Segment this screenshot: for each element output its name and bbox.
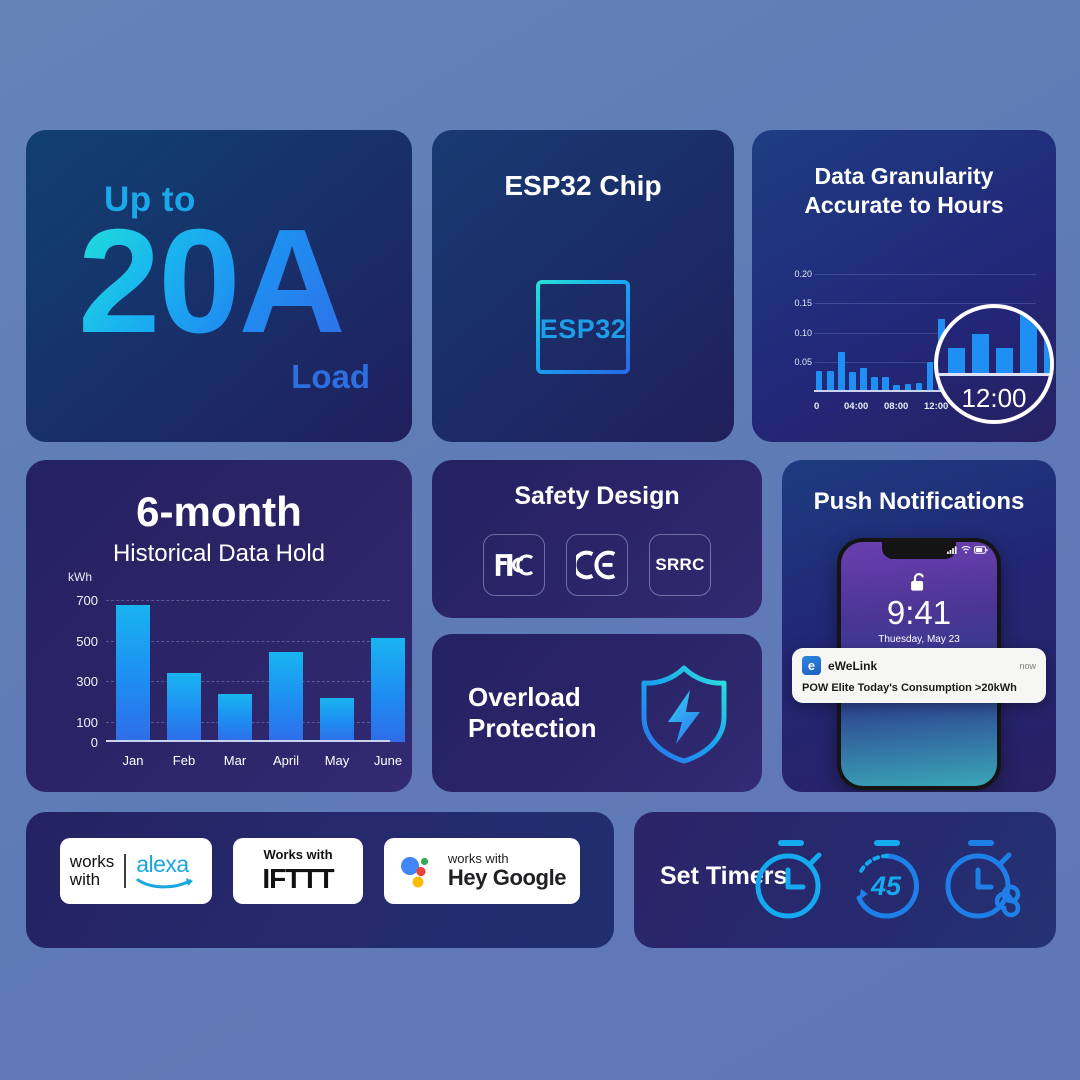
six-month-y-tick: 300 <box>52 674 98 689</box>
alexa-works-line2: with <box>70 871 114 889</box>
hourly-y-tick: 0.15 <box>774 298 812 308</box>
hourly-bar <box>816 371 823 392</box>
timer-clock-icon <box>750 838 832 922</box>
load-label: Load <box>291 358 370 396</box>
hourly-x-tick: 08:00 <box>884 401 908 412</box>
magnifier-icon: 12:00 <box>934 304 1054 424</box>
microchip-icon: ESP32 <box>508 252 658 407</box>
ifttt-wordmark: IFTTT <box>262 863 333 895</box>
card-data-granularity: Data Granularity Accurate to Hours 0.050… <box>752 130 1056 442</box>
notification-timestamp: now <box>1019 661 1036 671</box>
alexa-divider <box>124 854 126 888</box>
wifi-icon <box>961 546 971 554</box>
six-month-bar <box>218 694 252 742</box>
push-title: Push Notifications <box>782 488 1056 516</box>
six-month-y-tick: 0 <box>52 735 98 750</box>
alexa-wordmark: alexa <box>136 851 202 878</box>
phone-date: Thuesday, May 23 <box>841 634 997 645</box>
granularity-title-line2: Accurate to Hours <box>752 191 1056 220</box>
magnifier-time-label: 12:00 <box>938 383 1050 414</box>
overload-line1: Overload <box>468 682 597 713</box>
six-month-gridline <box>106 600 390 601</box>
signal-icon <box>947 546 958 554</box>
fcc-icon <box>483 534 545 596</box>
hourly-bar <box>860 368 867 392</box>
card-max-load: Up to 20A Load <box>26 130 412 442</box>
card-works-with: works with alexa Works with IFTTT <box>26 812 614 948</box>
six-month-bar <box>320 698 354 742</box>
card-overload-protection: Overload Protection <box>432 634 762 792</box>
six-month-title: 6-month <box>26 488 412 536</box>
card-push-notifications: Push Notifications 9:41 Thuesday, May 23 <box>782 460 1056 792</box>
hourly-y-tick: 0.10 <box>774 328 812 338</box>
hourly-consumption-chart: 0.050.100.150.20 004:0008:0012:0016:00 1… <box>770 258 1038 418</box>
hourly-x-tick: 0 <box>814 401 819 412</box>
works-with-google-badge[interactable]: works with Hey Google <box>384 838 580 904</box>
notification-message: POW Elite Today's Consumption >20kWh <box>802 682 1036 694</box>
six-month-bar <box>167 673 201 742</box>
six-month-chart-baseline <box>106 740 390 742</box>
hourly-y-tick: 0.20 <box>774 269 812 279</box>
loop-timer-icon <box>942 838 1030 922</box>
card-set-timers: Set Timers 45 <box>634 812 1056 948</box>
six-month-subtitle: Historical Data Hold <box>26 540 412 568</box>
works-with-alexa-badge[interactable]: works with alexa <box>60 838 212 904</box>
card-safety-design: Safety Design SRRC <box>432 460 762 618</box>
google-works-text: works with <box>448 852 566 866</box>
six-month-bar <box>371 638 405 742</box>
safety-title: Safety Design <box>432 482 762 511</box>
chip-label: ESP32 <box>508 313 658 344</box>
six-month-chart-unit: kWh <box>68 570 92 584</box>
ewelink-icon: e <box>802 656 821 675</box>
hourly-bar <box>827 371 834 392</box>
battery-icon <box>974 546 988 554</box>
alexa-works-line1: works <box>70 853 114 871</box>
six-month-y-tick: 500 <box>52 634 98 649</box>
amazon-smile-icon <box>136 877 202 891</box>
countdown-timer-icon: 45 <box>846 838 928 922</box>
hourly-bar <box>849 372 856 392</box>
granularity-title-line1: Data Granularity <box>752 162 1056 191</box>
countdown-value: 45 <box>870 871 902 901</box>
six-month-bar <box>269 652 303 742</box>
google-wordmark: Hey Google <box>448 866 566 890</box>
srrc-icon: SRRC <box>649 534 711 596</box>
shield-bolt-icon <box>636 662 732 771</box>
phone-time: 9:41 <box>841 594 997 632</box>
ce-icon <box>566 534 628 596</box>
google-assistant-icon <box>398 852 436 890</box>
card-six-month-history: 6-month Historical Data Hold kWh 7005003… <box>26 460 412 792</box>
feature-grid: Up to 20A Load ESP32 Chip <box>26 130 1056 948</box>
hourly-bar <box>838 352 845 392</box>
overload-line2: Protection <box>468 713 597 744</box>
works-with-ifttt-badge[interactable]: Works with IFTTT <box>233 838 363 904</box>
esp32-title: ESP32 Chip <box>432 170 734 202</box>
phone-status-icons <box>947 546 988 554</box>
six-month-chart: kWh 7005003001000 JanFebMarAprilMayJune <box>52 570 396 776</box>
hourly-x-tick: 04:00 <box>844 401 868 412</box>
hourly-y-tick: 0.05 <box>774 357 812 367</box>
phone-notch <box>882 542 956 559</box>
notification-app-name: eWeLink <box>828 659 1012 673</box>
six-month-bar <box>116 605 150 742</box>
max-load-value: 20A <box>78 208 344 356</box>
six-month-y-tick: 700 <box>52 593 98 608</box>
ifttt-works-text: Works with <box>263 847 332 862</box>
six-month-x-tick: June <box>358 753 412 768</box>
notification-banner[interactable]: e eWeLink now POW Elite Today's Consumpt… <box>792 648 1046 703</box>
six-month-y-tick: 100 <box>52 715 98 730</box>
hourly-bar <box>927 362 934 392</box>
card-esp32-chip: ESP32 Chip <box>432 130 734 442</box>
